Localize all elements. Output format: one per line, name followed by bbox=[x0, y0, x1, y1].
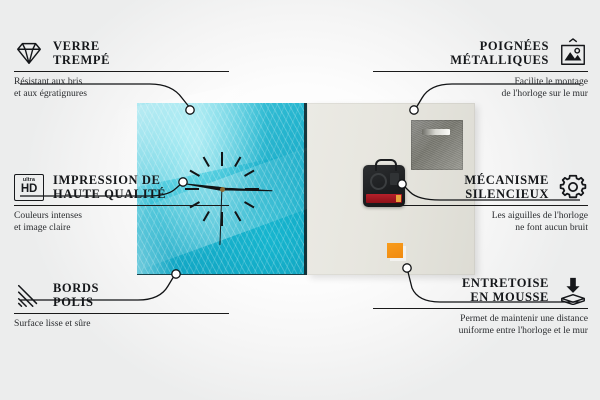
feature-title: ENTRETOISE EN MOUSSE bbox=[462, 276, 549, 305]
feature-description-line2: de l'horloge sur le mur bbox=[373, 88, 588, 100]
feature-divider bbox=[373, 71, 588, 72]
feature-header: ultra HD IMPRESSION DE HAUTE QUALITÉ bbox=[14, 172, 229, 202]
feature-header: ENTRETOISE EN MOUSSE bbox=[373, 275, 588, 305]
feature-description-line1: Permet de maintenir une distance bbox=[373, 313, 588, 325]
feature-description-line1: Facilite le montage bbox=[373, 76, 588, 88]
picture-frame-hanger-icon bbox=[558, 38, 588, 68]
feature-title: POIGNÉES MÉTALLIQUES bbox=[450, 39, 549, 68]
gear-icon bbox=[558, 172, 588, 202]
product-infographic: VERRE TREMPÉ Résistant aux bris et aux é… bbox=[0, 0, 600, 400]
foam-spacer-icon bbox=[558, 275, 588, 305]
feature-title: MÉCANISME SILENCIEUX bbox=[464, 173, 549, 202]
hanger-plate bbox=[411, 120, 463, 170]
hanger-slot bbox=[422, 129, 450, 135]
feature-description-line1: Surface lisse et sûre bbox=[14, 318, 229, 330]
feature-description-line1: Les aiguilles de l'horloge bbox=[373, 210, 588, 222]
feature-impression-haute-qualite: ultra HD IMPRESSION DE HAUTE QUALITÉ Cou… bbox=[14, 172, 229, 233]
feature-title: VERRE TREMPÉ bbox=[53, 39, 110, 68]
mechanism-hanging-loop bbox=[375, 159, 397, 171]
feature-divider bbox=[373, 205, 588, 206]
feature-description-line2: uniforme entre l'horloge et le mur bbox=[373, 325, 588, 337]
polished-edges-icon bbox=[14, 280, 44, 310]
diamond-icon bbox=[14, 38, 44, 68]
feature-mecanisme-silencieux: MÉCANISME SILENCIEUX Les aiguilles de l'… bbox=[373, 172, 588, 233]
feature-header: BORDS POLIS bbox=[14, 280, 229, 310]
feature-poignees-metalliques: POIGNÉES MÉTALLIQUES Facilite le montage… bbox=[373, 38, 588, 99]
feature-title: BORDS POLIS bbox=[53, 281, 99, 310]
feature-title: IMPRESSION DE HAUTE QUALITÉ bbox=[53, 173, 166, 202]
feature-header: POIGNÉES MÉTALLIQUES bbox=[373, 38, 588, 68]
feature-entretoise-en-mousse: ENTRETOISE EN MOUSSE Permet de maintenir… bbox=[373, 275, 588, 336]
feature-header: VERRE TREMPÉ bbox=[14, 38, 229, 68]
hd-label: HD bbox=[21, 184, 37, 196]
ultra-hd-badge-icon: ultra HD bbox=[14, 172, 44, 202]
foam-spacer bbox=[387, 243, 403, 258]
feature-divider bbox=[373, 308, 588, 309]
feature-divider bbox=[14, 313, 229, 314]
feature-divider bbox=[14, 71, 229, 72]
feature-description-line2: ne font aucun bruit bbox=[373, 222, 588, 234]
feature-description-line2: et aux égratignures bbox=[14, 88, 229, 100]
feature-description-line2: et image claire bbox=[14, 222, 229, 234]
feature-description-line1: Résistant aux bris bbox=[14, 76, 229, 88]
feature-verre-trempe: VERRE TREMPÉ Résistant aux bris et aux é… bbox=[14, 38, 229, 99]
feature-bords-polis: BORDS POLIS Surface lisse et sûre bbox=[14, 280, 229, 330]
feature-description-line1: Couleurs intenses bbox=[14, 210, 229, 222]
feature-header: MÉCANISME SILENCIEUX bbox=[373, 172, 588, 202]
feature-divider bbox=[14, 205, 229, 206]
